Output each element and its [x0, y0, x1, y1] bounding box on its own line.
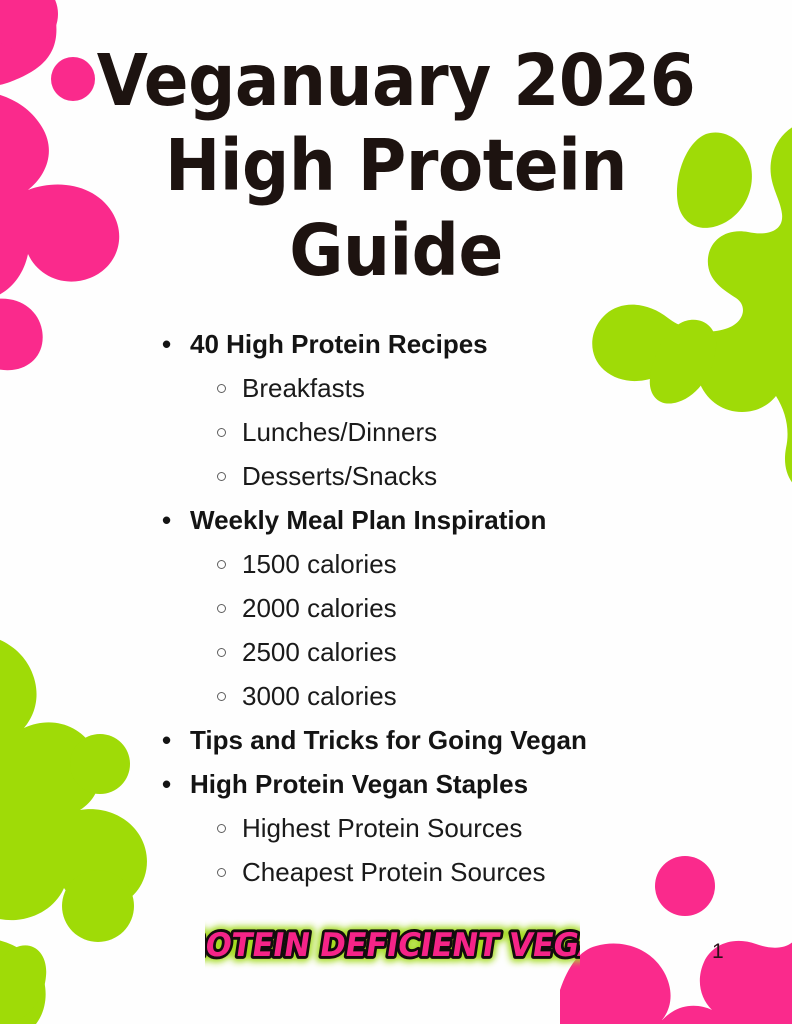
list-item-label: 3000 calories [242, 681, 397, 711]
brand-logo: PROTEIN DEFICIENT VEGAN PROTEIN DEFICIEN… [205, 916, 580, 972]
page-canvas: Veganuary 2026 High Protein Guide • 40 H… [0, 0, 792, 1024]
title-line-3: Guide [28, 208, 765, 293]
title-line-1: Veganuary 2026 [28, 38, 765, 123]
list-item-label: Breakfasts [242, 373, 365, 403]
list-item: • Tips and Tricks for Going Vegan [0, 718, 792, 762]
list-item: Breakfasts [0, 366, 792, 410]
list-item: Lunches/Dinners [0, 410, 792, 454]
contents-outline: • 40 High Protein Recipes Breakfasts Lun… [0, 322, 792, 894]
bullet-disc-icon: • [162, 498, 174, 542]
bullet-disc-icon: • [162, 762, 174, 806]
bullet-circle-icon [217, 648, 226, 657]
list-item-label: Tips and Tricks for Going Vegan [190, 725, 587, 755]
list-item-label: 2500 calories [242, 637, 397, 667]
list-item: 2000 calories [0, 586, 792, 630]
outline-sub-list: Breakfasts Lunches/Dinners Desserts/Snac… [0, 366, 792, 498]
list-item: 3000 calories [0, 674, 792, 718]
bullet-circle-icon [217, 472, 226, 481]
list-item-label: High Protein Vegan Staples [190, 769, 528, 799]
bullet-disc-icon: • [162, 322, 174, 366]
bullet-circle-icon [217, 560, 226, 569]
bullet-circle-icon [217, 824, 226, 833]
outline-sub-list: 1500 calories 2000 calories 2500 calorie… [0, 542, 792, 718]
list-item: Desserts/Snacks [0, 454, 792, 498]
list-item: Cheapest Protein Sources [0, 850, 792, 894]
list-item: 1500 calories [0, 542, 792, 586]
list-item: • Weekly Meal Plan Inspiration [0, 498, 792, 542]
list-item-label: Lunches/Dinners [242, 417, 437, 447]
bullet-circle-icon [217, 868, 226, 877]
outline-top-level-list: • 40 High Protein Recipes Breakfasts Lun… [0, 322, 792, 894]
bullet-disc-icon: • [162, 718, 174, 762]
title-line-2: High Protein [28, 123, 765, 208]
list-item-label: Desserts/Snacks [242, 461, 437, 491]
list-item: Highest Protein Sources [0, 806, 792, 850]
bullet-circle-icon [217, 604, 226, 613]
list-item-label: Cheapest Protein Sources [242, 857, 546, 887]
bullet-circle-icon [217, 428, 226, 437]
list-item-label: Highest Protein Sources [242, 813, 522, 843]
list-item: • High Protein Vegan Staples [0, 762, 792, 806]
page-title: Veganuary 2026 High Protein Guide [0, 38, 792, 293]
list-item-label: 40 High Protein Recipes [190, 329, 488, 359]
outline-sub-list: Highest Protein Sources Cheapest Protein… [0, 806, 792, 894]
bullet-circle-icon [217, 384, 226, 393]
list-item: 2500 calories [0, 630, 792, 674]
bullet-circle-icon [217, 692, 226, 701]
list-item: • 40 High Protein Recipes [0, 322, 792, 366]
list-item-label: 2000 calories [242, 593, 397, 623]
page-number: 1 [712, 940, 724, 964]
list-item-label: 1500 calories [242, 549, 397, 579]
list-item-label: Weekly Meal Plan Inspiration [190, 505, 546, 535]
logo-wordmark: PROTEIN DEFICIENT VEGAN [205, 925, 580, 964]
